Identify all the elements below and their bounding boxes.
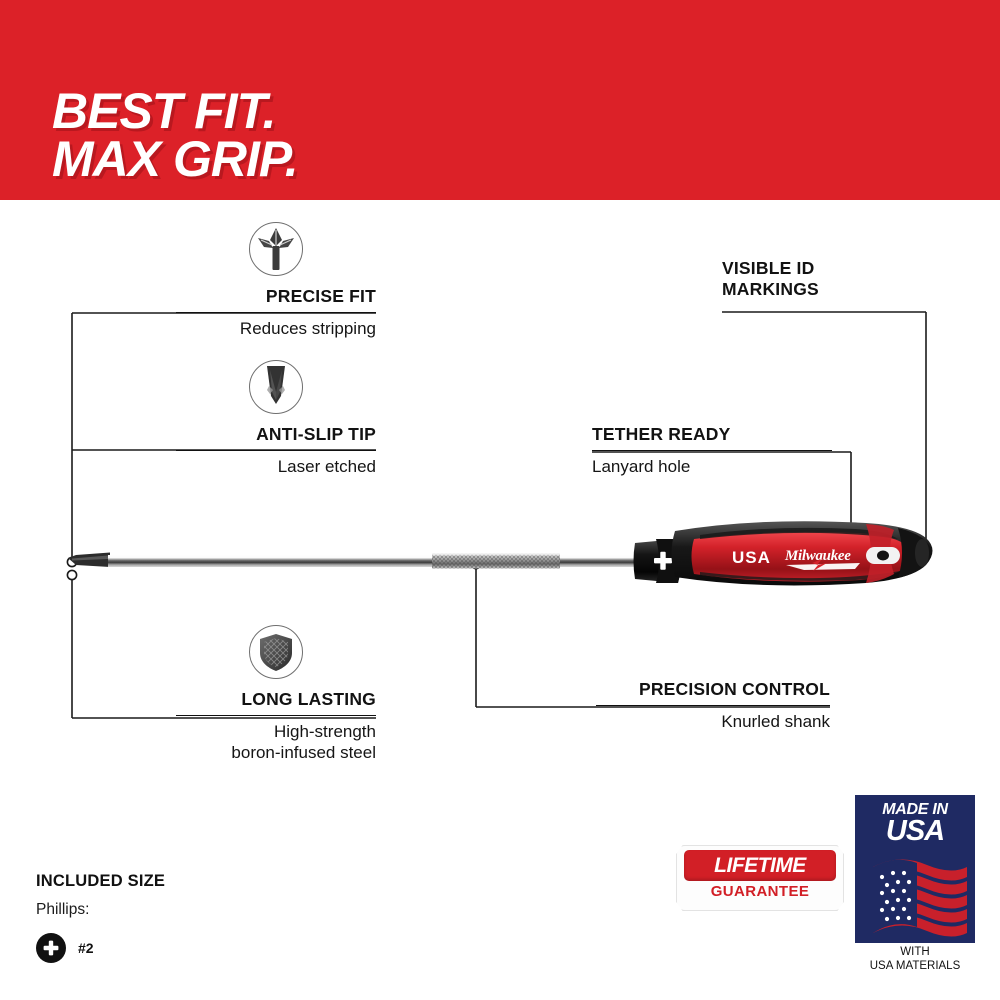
feature-title: PRECISE FIT <box>176 286 376 307</box>
feature-anti-slip-tip: ANTI-SLIP TIP Laser etched <box>176 360 376 478</box>
feature-long-lasting: LONG LASTING High-strength boron-infused… <box>176 625 376 763</box>
lanyard-hole <box>866 547 900 564</box>
made-in-usa-badge: MADE IN USA WITH USA MATERIALS <box>855 795 975 980</box>
handle-usa-marking: USA <box>732 548 771 567</box>
phillips-cross-icon <box>36 933 66 963</box>
screwdriver-tip-icon <box>249 360 303 414</box>
milwaukee-logo: Milwaukee <box>784 548 860 571</box>
screwdriver-product-image: USA Milwaukee <box>60 495 940 605</box>
feature-icon-wrap <box>176 360 376 414</box>
lifetime-guarantee-badge: LIFETIME GUARANTEE <box>676 845 844 911</box>
feature-icon-wrap <box>176 222 376 276</box>
feature-precision-control: PRECISION CONTROL Knurled shank <box>596 679 830 733</box>
feature-subtitle: High-strength boron-infused steel <box>176 722 376 763</box>
made-in-usa-text: MADE IN USA <box>855 803 975 844</box>
feature-subtitle: Lanyard hole <box>592 457 832 478</box>
product-feature-infographic: BEST FIT. MAX GRIP. <box>0 0 1000 1000</box>
lifetime-banner: LIFETIME <box>684 850 836 881</box>
feature-title: PRECISION CONTROL <box>596 679 830 700</box>
feature-icon-wrap <box>176 625 376 679</box>
included-size-type: Phillips: <box>36 901 165 919</box>
feature-rule <box>176 715 376 716</box>
included-size-label: #2 <box>78 940 94 956</box>
feature-tether-ready: TETHER READY Lanyard hole <box>592 424 832 478</box>
feature-precise-fit: PRECISE FIT Reduces stripping <box>176 222 376 340</box>
feature-visible-id-markings: VISIBLE ID MARKINGS <box>722 258 932 300</box>
shield-icon <box>249 625 303 679</box>
lifetime-text: LIFETIME <box>714 854 806 878</box>
feature-title: TETHER READY <box>592 424 832 445</box>
feature-rule <box>592 450 832 451</box>
feature-title: VISIBLE ID MARKINGS <box>722 258 932 300</box>
feature-subtitle: Knurled shank <box>596 712 830 733</box>
phillips-tip-in-screw-icon <box>249 222 303 276</box>
feature-subtitle: Reduces stripping <box>176 319 376 340</box>
feature-rule <box>176 312 376 313</box>
feature-rule <box>176 450 376 451</box>
feature-title: ANTI-SLIP TIP <box>176 424 376 445</box>
included-size-section: INCLUDED SIZE Phillips: #2 <box>36 872 165 963</box>
included-size-heading: INCLUDED SIZE <box>36 872 165 891</box>
usa-line: USA <box>855 818 975 845</box>
feature-title: LONG LASTING <box>176 689 376 710</box>
feature-rule <box>596 705 830 706</box>
feature-subtitle: Laser etched <box>176 457 376 478</box>
usa-materials-text: WITH USA MATERIALS <box>855 945 975 974</box>
included-size-row: #2 <box>36 933 165 963</box>
guarantee-text: GUARANTEE <box>676 883 844 900</box>
